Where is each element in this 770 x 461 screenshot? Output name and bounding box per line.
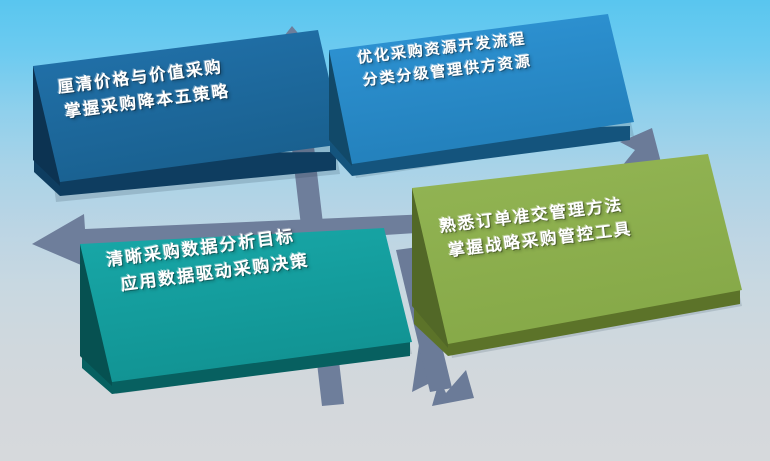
panel-top-right[interactable] <box>329 14 634 178</box>
quadrant-illustration <box>0 0 770 461</box>
diagram-canvas: 厘清价格与价值采购 掌握采购降本五策略 优化采购资源开发流程 分类分级管理供方资… <box>0 0 770 461</box>
panel-bottom-left[interactable] <box>80 228 412 394</box>
panel-top-face <box>412 154 742 344</box>
panel-bottom-right[interactable] <box>412 154 742 358</box>
panel-top-left[interactable] <box>33 30 344 202</box>
